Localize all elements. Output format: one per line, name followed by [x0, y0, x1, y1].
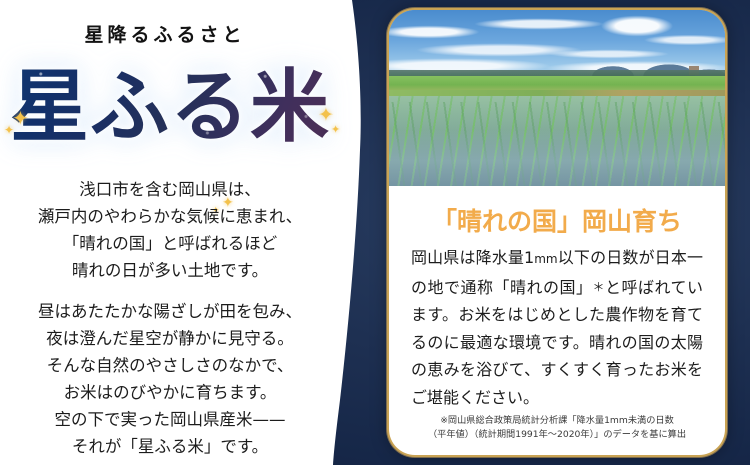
card-heading: 「晴れの国」岡山育ち [411, 202, 703, 238]
unit-mm: mm [534, 252, 557, 266]
brand-tagline: 星降るふるさと [0, 20, 330, 47]
rice-paddy-photo [389, 10, 725, 186]
card-text-block: 「晴れの国」岡山育ち 岡山県は降水量1mm以下の日数が日本一の地で通称「晴れの国… [389, 186, 725, 411]
footnote-marker: ＊ [592, 280, 605, 294]
poster-root: 星降るふるさと 星ふる米 ✦ ✦ ✦ ✦ ✦ ✦ 浅口市を含む岡山県は、瀬戸内の… [0, 0, 750, 465]
card-body-copy: 岡山県は降水量1mm以下の日数が日本一の地で通称「晴れの国」＊と呼ばれています。… [411, 244, 703, 411]
card-body-part-1: 岡山県は降水量1 [411, 248, 534, 267]
left-paragraph-2: 昼はあたたかな陽ざしが田を包み、夜は澄んだ星空が静かに見守る。そんな自然のやさし… [0, 298, 340, 460]
left-paragraph-1: 浅口市を含む岡山県は、瀬戸内のやわらかな気候に恵まれ、「晴れの国」と呼ばれるほど… [0, 176, 340, 284]
footnote-line-1: ※岡山県総合政策局統計分析課「降水量1mm未満の日数 [405, 414, 709, 428]
okayama-info-card: 「晴れの国」岡山育ち 岡山県は降水量1mm以下の日数が日本一の地で通称「晴れの国… [389, 10, 725, 455]
brand-logo: 星ふる米 ✦ ✦ ✦ ✦ ✦ ✦ [0, 48, 340, 168]
footnote-line-2: （平年値）（統計期間1991年〜2020年）」のデータを基に算出 [405, 428, 709, 442]
left-panel-content: 星降るふるさと 星ふる米 ✦ ✦ ✦ ✦ ✦ ✦ 浅口市を含む岡山県は、瀬戸内の… [0, 0, 345, 465]
card-footnote: ※岡山県総合政策局統計分析課「降水量1mm未満の日数 （平年値）（統計期間199… [389, 414, 725, 442]
water-reflection [389, 130, 725, 186]
left-body-copy: 浅口市を含む岡山県は、瀬戸内のやわらかな気候に恵まれ、「晴れの国」と呼ばれるほど… [0, 176, 340, 460]
left-white-panel: 星降るふるさと 星ふる米 ✦ ✦ ✦ ✦ ✦ ✦ 浅口市を含む岡山県は、瀬戸内の… [0, 0, 372, 465]
brand-logo-text: 星ふる米 [0, 48, 340, 166]
